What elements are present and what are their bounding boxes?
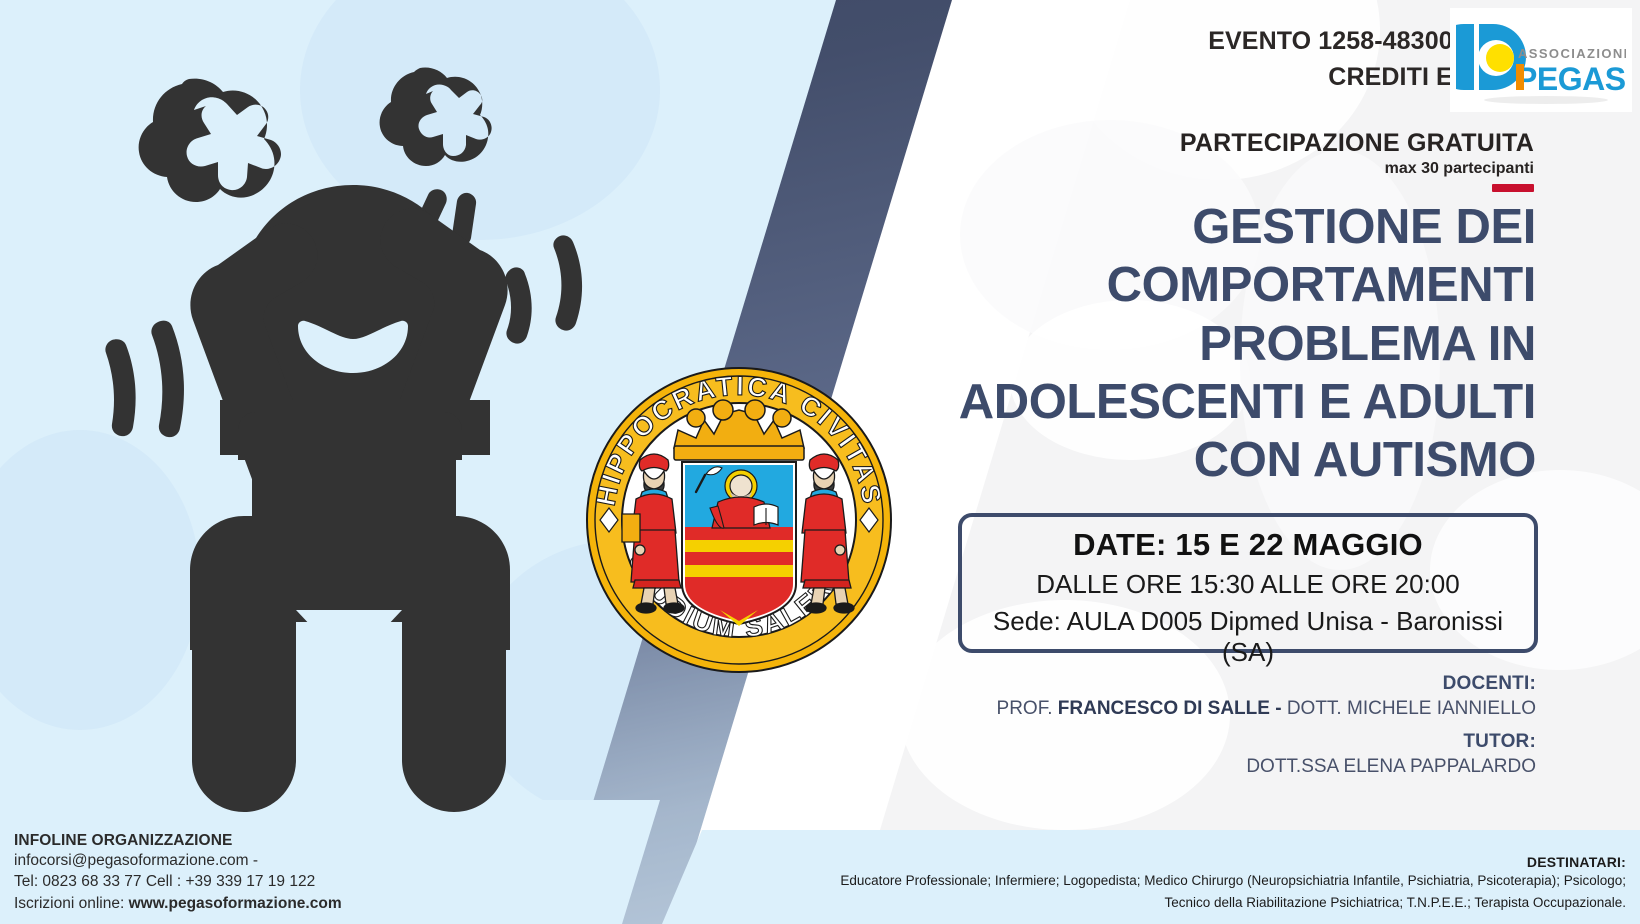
infoline-signup: Iscrizioni online: www.pegasoformazione.… (14, 893, 342, 914)
teachers-lead-name: FRANCESCO DI SALLE - (1058, 698, 1287, 719)
destinatari-label: DESTINATARI: (666, 854, 1626, 870)
max-participants-label: max 30 partecipanti (1180, 160, 1534, 178)
infoline-website[interactable]: www.pegasoformazione.com (129, 895, 342, 912)
dates-line: DATE: 15 E 22 MAGGIO (970, 527, 1526, 563)
target-audience-block: DESTINATARI: Educatore Professionale; In… (666, 854, 1626, 914)
teachers-label: DOCENTI: (997, 673, 1536, 695)
logo-brand-word: PEGASO (1516, 61, 1626, 97)
infoline-block: INFOLINE ORGANIZZAZIONE infocorsi@pegaso… (14, 832, 342, 914)
staff-block: DOCENTI: PROF. FRANCESCO DI SALLE - DOTT… (997, 673, 1536, 778)
tutor-label: TUTOR: (997, 731, 1536, 753)
page-title: GESTIONE DEI COMPORTAMENTI PROBLEMA IN A… (856, 198, 1536, 489)
infoline-phone: Tel: 0823 68 33 77 Cell : +39 339 17 19 … (14, 871, 342, 892)
red-accent-rule (1492, 184, 1534, 192)
infoline-signup-prefix: Iscrizioni online: (14, 895, 129, 912)
tutor-name: DOTT.SSA ELENA PAPPALARDO (997, 756, 1536, 778)
infoline-email[interactable]: infocorsi@pegasoformazione.com - (14, 850, 342, 871)
poster-canvas: HIPPOCRATICA CIVITAS STUDIUM SALERNI (0, 0, 1640, 924)
title-line-3: PROBLEMA IN (856, 315, 1536, 373)
teachers-prefix: PROF. (997, 698, 1058, 719)
hours-line: DALLE ORE 15:30 ALLE ORE 20:00 (970, 569, 1526, 600)
participation-free-label: PARTECIPAZIONE GRATUITA (1180, 129, 1534, 158)
date-venue-box: DATE: 15 E 22 MAGGIO DALLE ORE 15:30 ALL… (958, 513, 1538, 653)
destinatari-line-2: Tecnico della Riabilitazione Psichiatric… (666, 893, 1626, 914)
teachers-second-name: DOTT. MICHELE IANNIELLO (1287, 698, 1536, 719)
title-line-4: ADOLESCENTI E ADULTI (856, 373, 1536, 431)
title-line-2: COMPORTAMENTI (856, 256, 1536, 314)
infoline-title: INFOLINE ORGANIZZAZIONE (14, 832, 342, 850)
university-of-salerno-seal: HIPPOCRATICA CIVITAS STUDIUM SALERNI (578, 352, 900, 678)
destinatari-line-1: Educatore Professionale; Infermiere; Log… (666, 871, 1626, 892)
venue-line: Sede: AULA D005 Dipmed Unisa - Baronissi… (970, 606, 1526, 668)
title-line-1: GESTIONE DEI (856, 198, 1536, 256)
frustrated-person-icon (70, 10, 630, 820)
teachers-line: PROF. FRANCESCO DI SALLE - DOTT. MICHELE… (997, 698, 1536, 720)
title-line-5: CON AUTISMO (856, 431, 1536, 489)
participation-block: PARTECIPAZIONE GRATUITA max 30 partecipa… (1180, 129, 1534, 178)
pegaso-logo: ASSOCIAZIONE PEGASO (1450, 8, 1632, 112)
logo-association-word: ASSOCIAZIONE (1518, 46, 1626, 61)
